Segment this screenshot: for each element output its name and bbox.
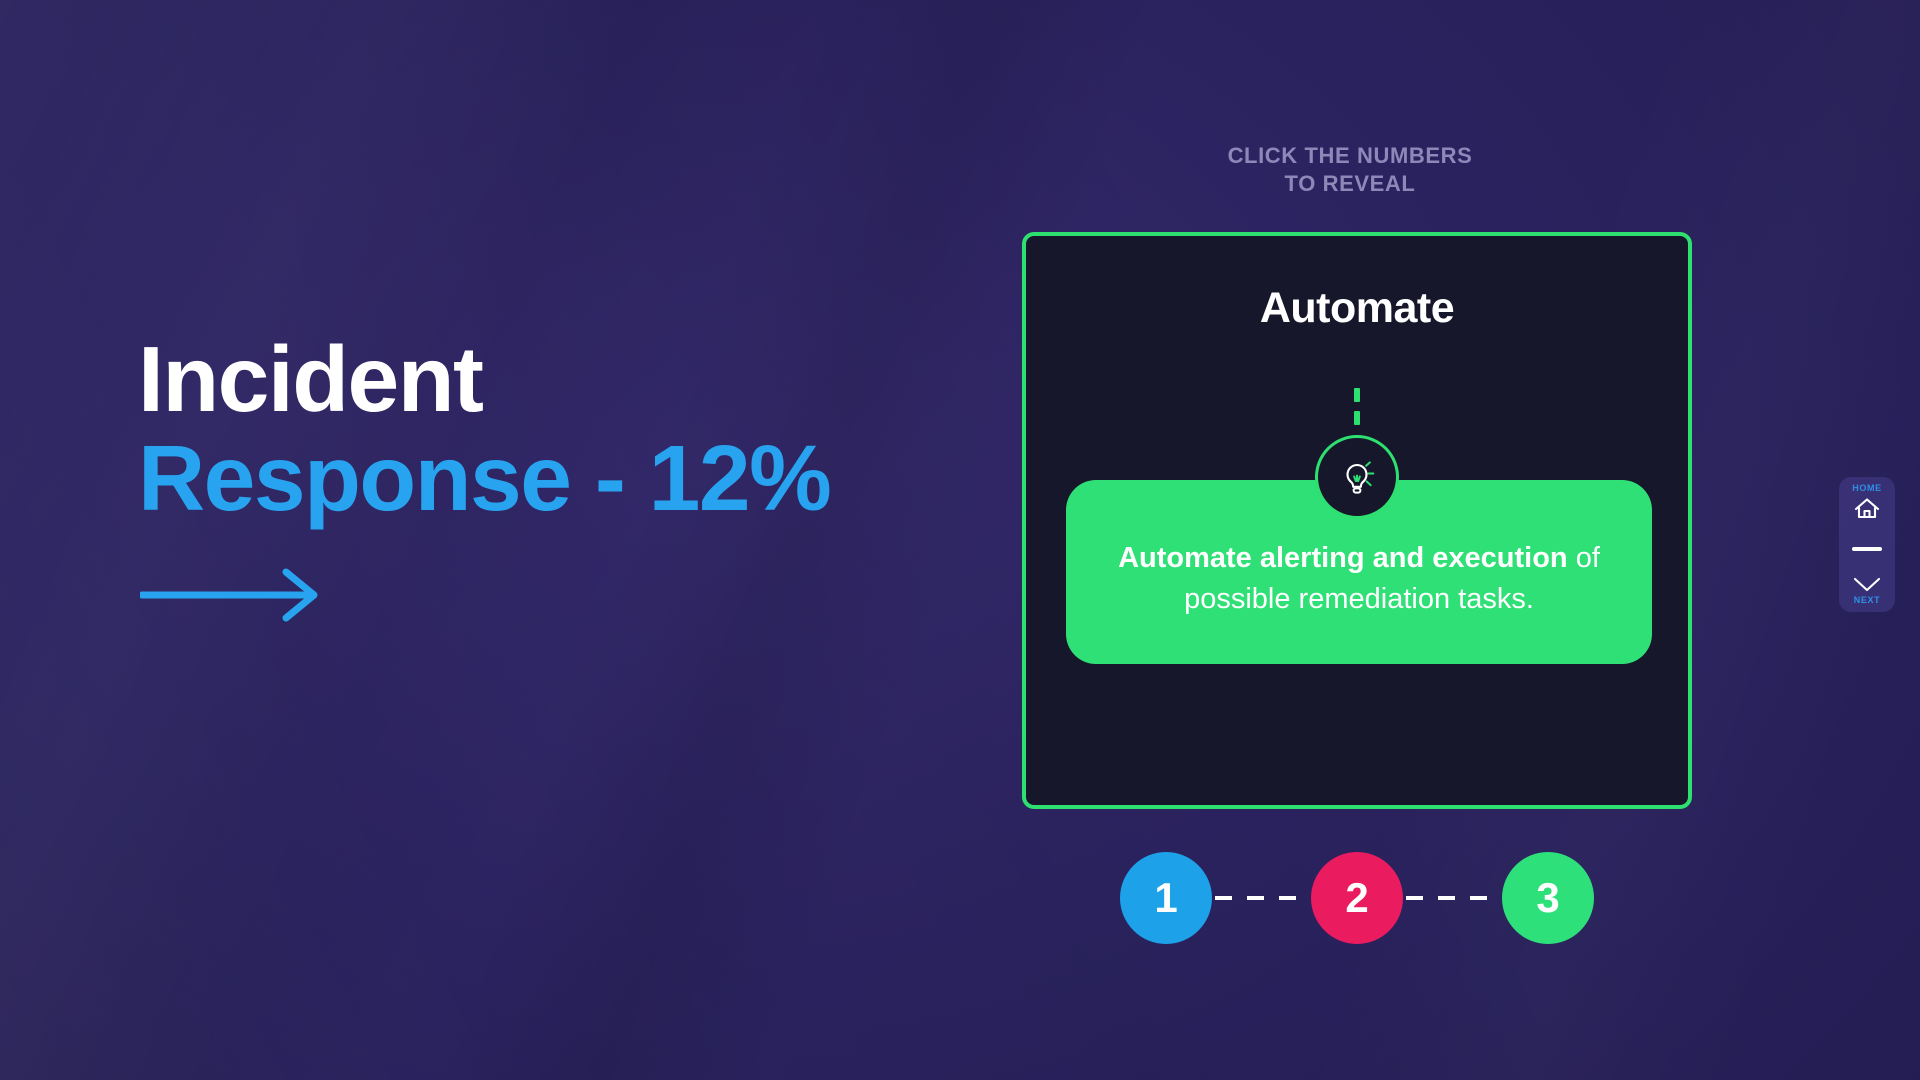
arrow-right-icon xyxy=(140,567,330,623)
lightbulb-icon xyxy=(1315,435,1399,519)
reveal-hint-line-1: CLICK THE NUMBERS xyxy=(1090,142,1610,170)
step-connector-1-2 xyxy=(1215,896,1308,900)
step-dot-1-label: 1 xyxy=(1154,874,1177,922)
slide-stage: Incident Response - 12% CLICK THE NUMBER… xyxy=(0,0,1920,1080)
headline-line-secondary: Response - 12% xyxy=(138,429,958,528)
home-button[interactable]: HOME xyxy=(1852,484,1881,522)
home-label: HOME xyxy=(1852,484,1881,493)
next-button[interactable]: NEXT xyxy=(1852,576,1882,605)
card-title: Automate xyxy=(1026,284,1688,333)
dashed-connector xyxy=(1354,388,1360,434)
reveal-hint-line-2: TO REVEAL xyxy=(1090,170,1610,198)
next-label: NEXT xyxy=(1854,596,1880,605)
chevron-down-icon xyxy=(1852,576,1882,593)
step-dot-2[interactable]: 2 xyxy=(1311,852,1403,944)
reveal-card: Automate Automate alerting and execution… xyxy=(1022,232,1692,809)
reveal-hint: CLICK THE NUMBERS TO REVEAL xyxy=(1090,142,1610,198)
nav-divider xyxy=(1852,547,1882,551)
headline-line-primary: Incident xyxy=(138,330,958,429)
headline-block: Incident Response - 12% xyxy=(138,330,958,623)
home-icon xyxy=(1853,496,1881,522)
answer-text: Automate alerting and execution of possi… xyxy=(1110,538,1608,620)
answer-text-bold: Automate alerting and execution xyxy=(1118,542,1568,574)
step-navigation: 1 2 3 xyxy=(1120,848,1594,948)
step-dot-3[interactable]: 3 xyxy=(1502,852,1594,944)
step-dot-3-label: 3 xyxy=(1536,874,1559,922)
step-dot-1[interactable]: 1 xyxy=(1120,852,1212,944)
side-navigation: HOME NEXT xyxy=(1839,477,1895,612)
step-connector-2-3 xyxy=(1406,896,1499,900)
step-dot-2-label: 2 xyxy=(1345,874,1368,922)
